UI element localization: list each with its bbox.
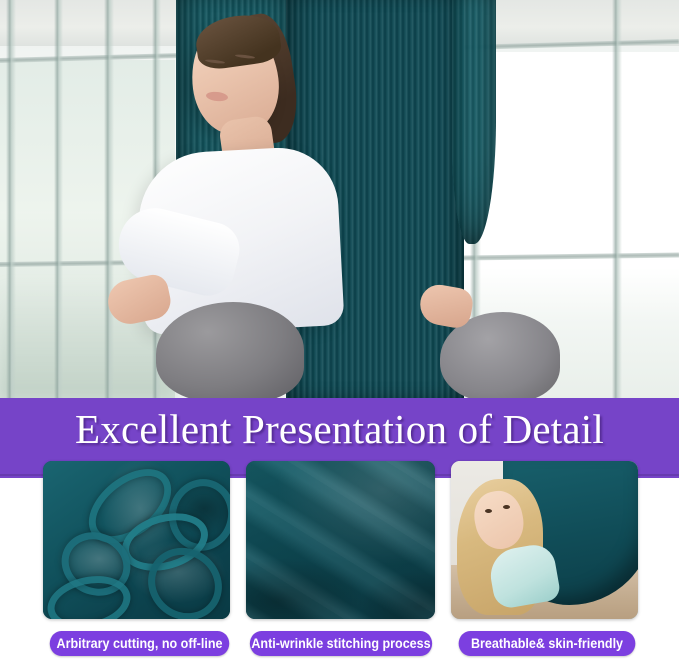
feature-card[interactable] bbox=[246, 461, 435, 619]
fabric-texture bbox=[246, 461, 435, 619]
room-scene bbox=[451, 461, 638, 619]
fabric-loops-thumbnail[interactable] bbox=[43, 461, 230, 619]
window-mullion bbox=[6, 0, 16, 400]
hammock-fabric bbox=[452, 0, 496, 244]
hero-image bbox=[0, 0, 679, 400]
feature-card[interactable] bbox=[43, 461, 230, 619]
page-title: Excellent Presentation of Detail bbox=[0, 398, 679, 460]
window-mullion bbox=[612, 0, 622, 400]
window-mullion bbox=[54, 0, 63, 400]
child-eye bbox=[503, 505, 510, 509]
feature-cards: Arbitrary cutting, no off-line Anti-wrin… bbox=[0, 461, 679, 668]
feature-caption-2: Anti-wrinkle stitching process bbox=[250, 631, 432, 656]
feature-caption-1: Arbitrary cutting, no off-line bbox=[50, 631, 229, 656]
product-feature-banner: Excellent Presentation of Detail bbox=[0, 0, 679, 668]
feature-card[interactable] bbox=[451, 461, 638, 619]
fabric-drape-thumbnail[interactable] bbox=[246, 461, 435, 619]
model-knee bbox=[156, 302, 304, 400]
window-mullion bbox=[104, 0, 114, 400]
child-hammock-thumbnail[interactable] bbox=[451, 461, 638, 619]
child-eye bbox=[485, 509, 492, 513]
feature-caption-3: Breathable& skin-friendly bbox=[459, 631, 636, 656]
